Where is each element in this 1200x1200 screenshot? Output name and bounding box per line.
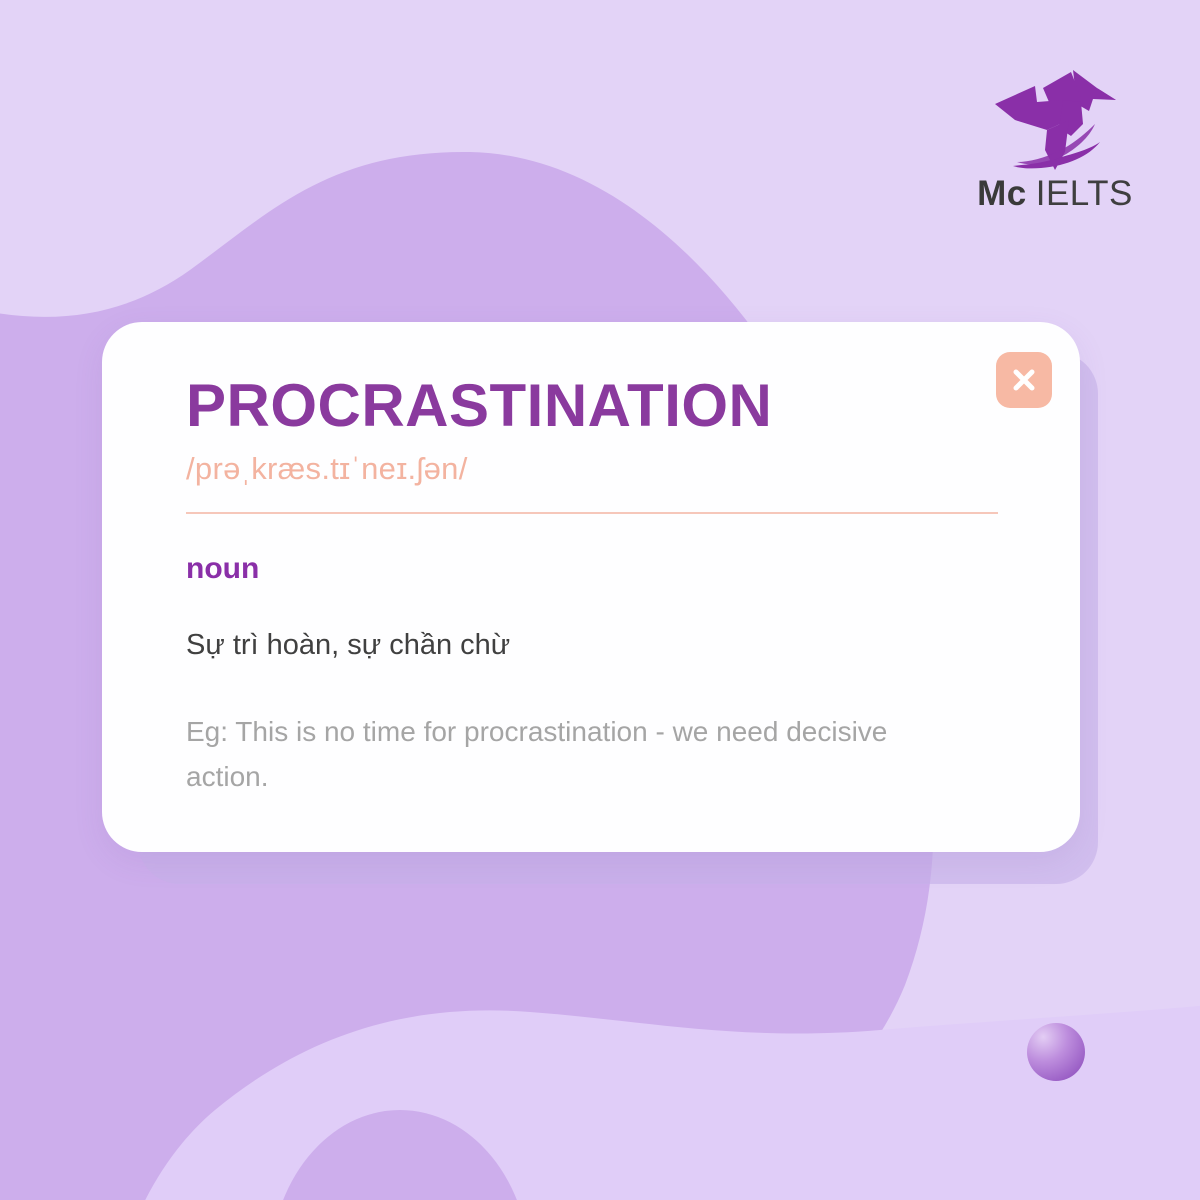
close-button[interactable]: [996, 352, 1052, 408]
brand-name: McIELTS: [977, 176, 1133, 211]
brand-logo: McIELTS: [965, 58, 1145, 228]
example-sentence: Eg: This is no time for procrastination …: [186, 709, 946, 800]
phonetic-transcription: /prəˌkræs.tɪˈneɪ.ʃən/: [186, 452, 996, 486]
brand-name-mc: Mc: [977, 174, 1027, 213]
brand-name-ielts: IELTS: [1036, 174, 1133, 213]
card-body: PROCRASTINATION /prəˌkræs.tɪˈneɪ.ʃən/ no…: [102, 322, 1080, 800]
close-icon: [1009, 365, 1039, 395]
background-sphere: [1027, 1023, 1085, 1081]
hummingbird-logo-icon: [985, 58, 1125, 170]
vocabulary-card: PROCRASTINATION /prəˌkræs.tɪˈneɪ.ʃən/ no…: [102, 322, 1080, 852]
word-meaning: Sự trì hoàn, sự chần chừ: [186, 627, 996, 663]
section-divider: [186, 512, 998, 514]
word-title: PROCRASTINATION: [186, 374, 996, 438]
part-of-speech: noun: [186, 552, 996, 585]
